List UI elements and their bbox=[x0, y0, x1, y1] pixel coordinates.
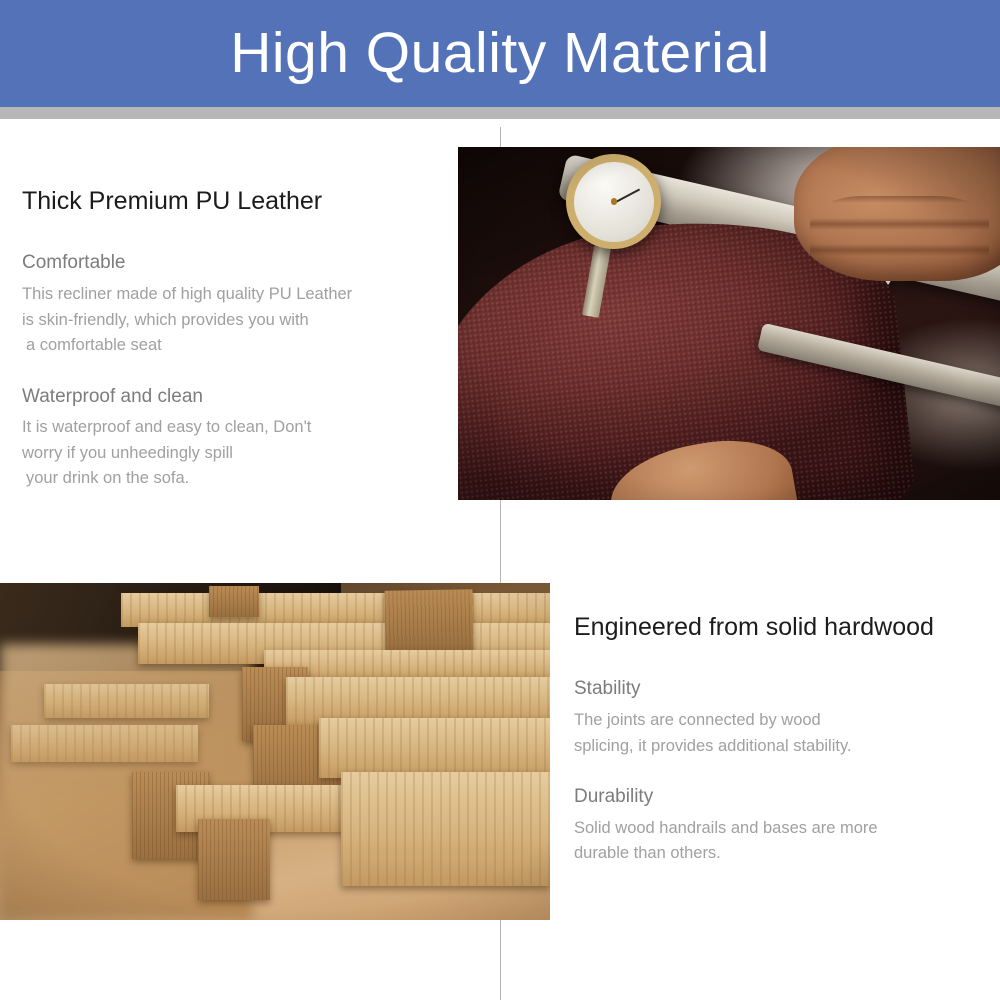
subsection-body-stability: The joints are connected by wood splicin… bbox=[574, 708, 974, 759]
subsection-body-waterproof-and-clean: It is waterproof and easy to clean, Don'… bbox=[22, 415, 432, 492]
header-banner: High Quality Material bbox=[0, 0, 1000, 107]
section-pu-leather: Thick Premium PU Leather Comfortable Thi… bbox=[22, 186, 432, 492]
body-line: This recliner made of high quality PU Le… bbox=[22, 282, 432, 308]
body-line: a comfortable seat bbox=[22, 333, 432, 359]
body-line: splicing, it provides additional stabili… bbox=[574, 734, 974, 760]
body-line: worry if you unheedingly spill bbox=[22, 441, 432, 467]
photo-vignette bbox=[458, 147, 1000, 500]
subsection-body-durability: Solid wood handrails and bases are more … bbox=[574, 816, 974, 867]
subsection-waterproof-and-clean: Waterproof and clean It is waterproof an… bbox=[22, 385, 432, 492]
body-line: The joints are connected by wood bbox=[574, 708, 974, 734]
subsection-stability: Stability The joints are connected by wo… bbox=[574, 677, 974, 759]
body-line: durable than others. bbox=[574, 841, 974, 867]
subsection-heading-comfortable: Comfortable bbox=[22, 251, 432, 276]
product-feature-page: High Quality Material Thick Premium PU L… bbox=[0, 0, 1000, 1000]
section-title-pu-leather: Thick Premium PU Leather bbox=[22, 186, 432, 217]
header-underbar bbox=[0, 107, 1000, 119]
section-solid-hardwood: Engineered from solid hardwood Stability… bbox=[574, 612, 974, 867]
subsection-body-comfortable: This recliner made of high quality PU Le… bbox=[22, 282, 432, 359]
body-line: Solid wood handrails and bases are more bbox=[574, 816, 974, 842]
subsection-heading-durability: Durability bbox=[574, 785, 974, 810]
section-title-solid-hardwood: Engineered from solid hardwood bbox=[574, 612, 974, 643]
photo-stacked-hardwood-lumber bbox=[0, 583, 550, 920]
body-line: is skin-friendly, which provides you wit… bbox=[22, 308, 432, 334]
body-line: It is waterproof and easy to clean, Don'… bbox=[22, 415, 432, 441]
photo-vignette bbox=[0, 583, 550, 920]
subsection-comfortable: Comfortable This recliner made of high q… bbox=[22, 251, 432, 358]
photo-leather-thickness-gauge bbox=[458, 147, 1000, 500]
body-line: your drink on the sofa. bbox=[22, 466, 432, 492]
page-title: High Quality Material bbox=[230, 25, 770, 82]
subsection-heading-waterproof-and-clean: Waterproof and clean bbox=[22, 385, 432, 410]
subsection-heading-stability: Stability bbox=[574, 677, 974, 702]
subsection-durability: Durability Solid wood handrails and base… bbox=[574, 785, 974, 867]
